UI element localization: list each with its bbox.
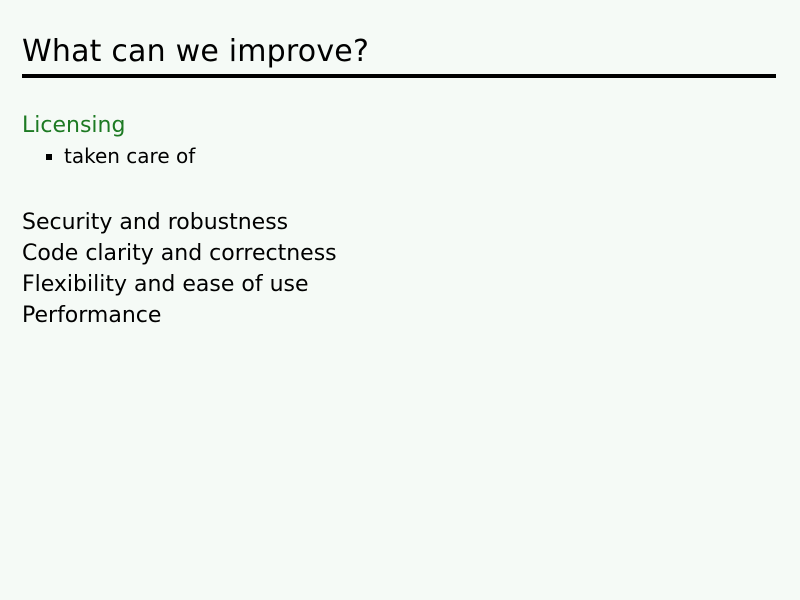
content-spacer (22, 171, 762, 207)
bullet-topic-security: Security and robustness (22, 207, 762, 238)
bullet-topic-performance: Performance (22, 300, 762, 331)
slide-canvas: What can we improve? Licensing taken car… (0, 0, 800, 600)
bullet-topic-code-clarity: Code clarity and correctness (22, 238, 762, 269)
title-divider-rule (22, 74, 776, 78)
bullet-licensing-heading: Licensing (22, 110, 762, 141)
square-bullet-icon (46, 154, 52, 160)
list-item-taken-care-of: taken care of (46, 141, 762, 171)
slide-body: Licensing taken care of Security and rob… (22, 110, 762, 331)
page-title: What can we improve? (22, 34, 778, 70)
list-item-label: taken care of (64, 141, 195, 171)
slide-title-area: What can we improve? (22, 34, 778, 70)
page-title-text: What can we improve? (22, 34, 369, 69)
bullet-topic-flexibility: Flexibility and ease of use (22, 269, 762, 300)
